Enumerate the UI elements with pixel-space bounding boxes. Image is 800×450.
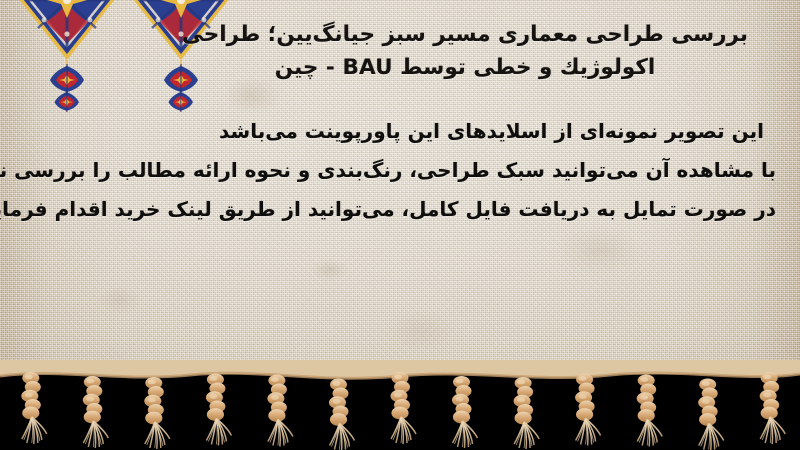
- carpet-fringe: [0, 360, 800, 450]
- slide-body: این تصویر نمونه‌ای از اسلایدهای این پاور…: [34, 112, 764, 229]
- slide-canvas: بررسی طراحی معماری مسیر سبز جیانگ‌یین؛ ط…: [0, 0, 800, 450]
- body-line-3: در صورت تمایل به دریافت فایل کامل، می‌تو…: [34, 190, 776, 229]
- body-line-1: این تصویر نمونه‌ای از اسلایدهای این پاور…: [34, 112, 764, 151]
- title-line-2: اکولوژیك و خطی توسط BAU - چین: [275, 55, 656, 80]
- title-line-1: بررسی طراحی معماری مسیر سبز جیانگ‌یین؛ ط…: [182, 22, 748, 47]
- body-line-2: با مشاهده آن می‌توانید سبک طراحی، رنگ‌بن…: [34, 151, 776, 190]
- slide-title: بررسی طراحی معماری مسیر سبز جیانگ‌یین؛ ط…: [160, 18, 770, 84]
- persian-medallion-ornament-left: [14, 0, 120, 116]
